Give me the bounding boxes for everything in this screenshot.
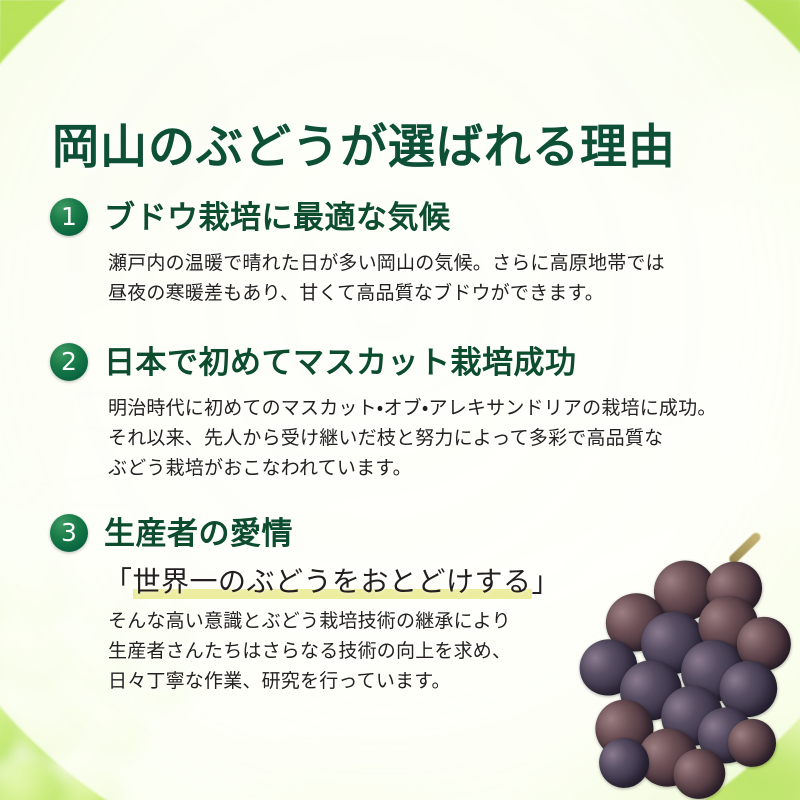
number-badge-1: 1: [50, 198, 88, 236]
content-layer: 岡山のぶどうが選ばれる理由 1 ブドウ栽培に最適な気候 瀬戸内の温暖で晴れた日が…: [0, 0, 800, 800]
reason-body-line: 日々丁寧な作業、研究を行っています。: [108, 666, 511, 696]
reason-body-2: 明治時代に初めてのマスカット・オブ・アレキサンドリアの栽培に成功。 それ以来、先…: [108, 393, 717, 483]
number-badge-2: 2: [50, 343, 88, 381]
quote-highlighted-text: 世界一のぶどうをおとどけする: [133, 560, 532, 600]
reason-body-line: 昼夜の寒暖差もあり、甘くて高品質なブドウができます。: [108, 278, 665, 308]
quote-open-bracket: 「: [104, 565, 133, 598]
reason-body-line: ぶどう栽培がおこなわれています。: [108, 453, 717, 483]
quote-close-bracket: 」: [532, 565, 561, 598]
page-title: 岡山のぶどうが選ばれる理由: [52, 108, 676, 177]
reason-body-line: それ以来、先人から受け継いだ枝と努力によって多彩で高品質な: [108, 423, 717, 453]
reason-body-line: そんな高い意識とぶどう栽培技術の継承により: [108, 606, 511, 636]
reason-body-1: 瀬戸内の温暖で晴れた日が多い岡山の気候。さらに高原地帯では 昼夜の寒暖差もあり、…: [108, 248, 665, 308]
reason-body-3: そんな高い意識とぶどう栽培技術の継承により 生産者さんたちはさらなる技術の向上を…: [108, 606, 511, 696]
reason-body-line: 明治時代に初めてのマスカット・オブ・アレキサンドリアの栽培に成功。: [108, 393, 717, 423]
reason-heading-2: 日本で初めてマスカット栽培成功: [104, 337, 577, 382]
reason-body-line: 生産者さんたちはさらなる技術の向上を求め、: [108, 636, 511, 666]
reason-heading-3: 生産者の愛情: [104, 508, 293, 553]
reason-heading-1: ブドウ栽培に最適な気候: [104, 192, 451, 237]
reason-quote: 「世界一のぶどうをおとどけする」: [104, 560, 560, 600]
number-badge-3: 3: [50, 514, 88, 552]
reason-body-line: 瀬戸内の温暖で晴れた日が多い岡山の気候。さらに高原地帯では: [108, 248, 665, 278]
promo-banner: 岡山のぶどうが選ばれる理由 1 ブドウ栽培に最適な気候 瀬戸内の温暖で晴れた日が…: [0, 0, 800, 800]
